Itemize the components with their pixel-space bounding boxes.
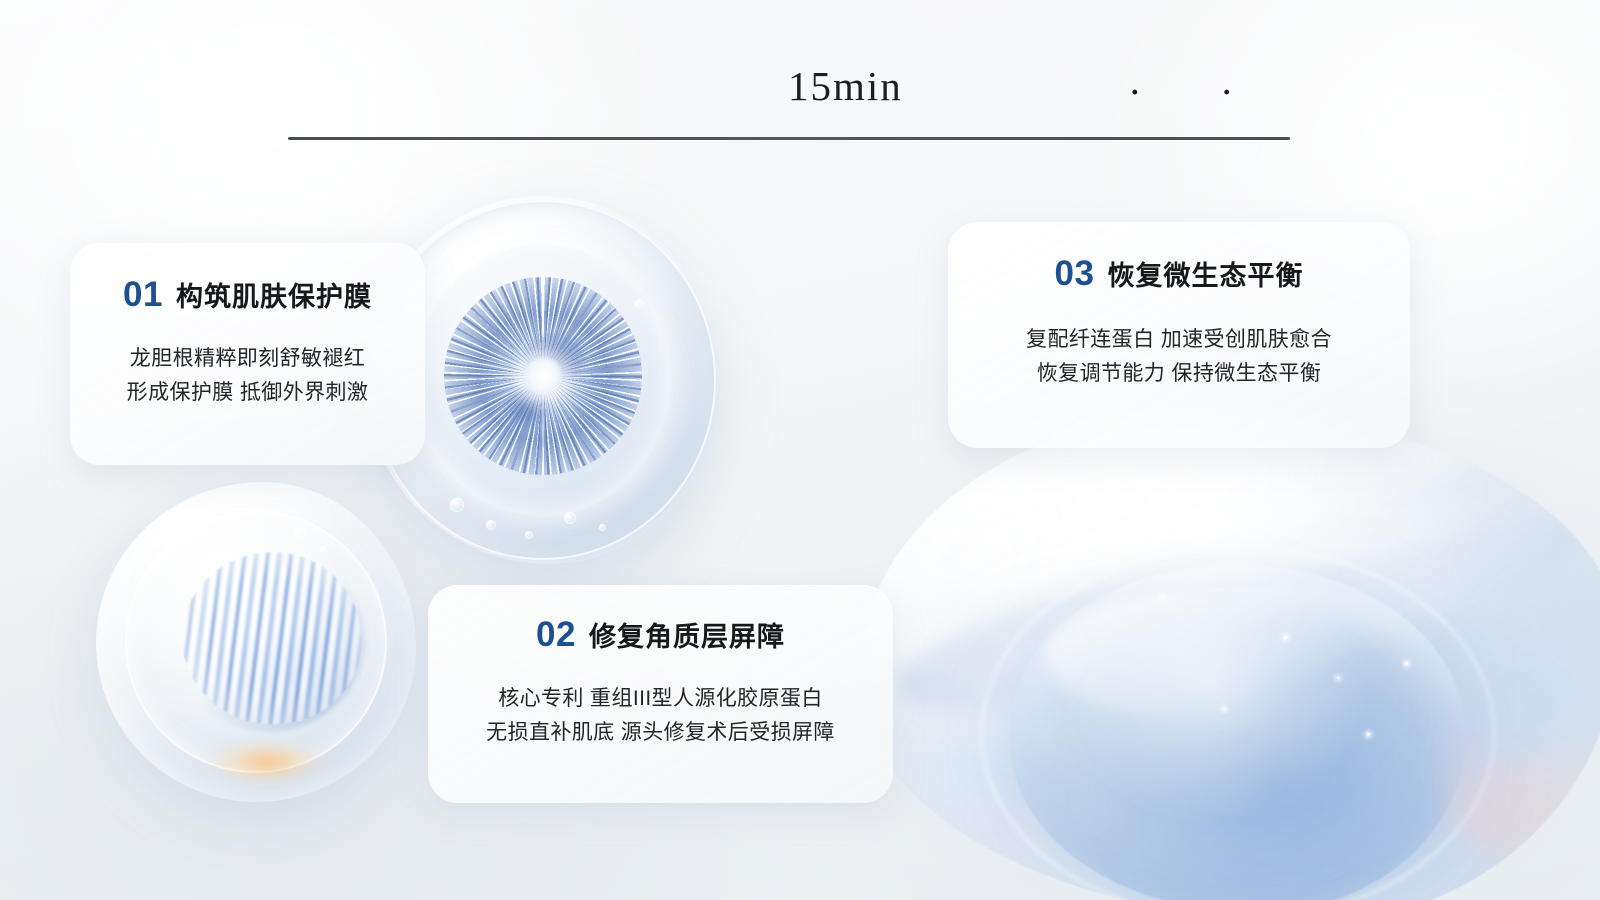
card-02-heading: 02 修复角质层屏障 [536, 617, 785, 652]
benefit-card-01: 01 构筑肌肤保护膜 龙胆根精粹即刻舒敏褪红 形成保护膜 抵御外界刺激 [70, 243, 425, 465]
bubble [429, 277, 439, 287]
duration-label: 15min [788, 62, 903, 110]
bubble [564, 512, 576, 524]
gel-sparkle [1223, 708, 1225, 710]
radial-burst-core [444, 277, 642, 475]
card-02-number: 02 [536, 617, 576, 652]
card-01-body: 龙胆根精粹即刻舒敏褪红 形成保护膜 抵御外界刺激 [127, 342, 369, 410]
card-03-body: 复配纤连蛋白 加速受创肌肤愈合 恢复调节能力 保持微生态平衡 [1026, 323, 1332, 391]
burst-shadow [503, 388, 551, 428]
poster-stage: 15min · · 01 构筑肌肤保护膜 龙胆根精粹即刻舒敏褪红 形成保护膜 抵… [0, 0, 1600, 900]
bubble [635, 299, 644, 308]
card-01-title: 构筑肌肤保护膜 [176, 284, 372, 311]
card-03-number: 03 [1055, 256, 1095, 291]
card-01-body-line-2: 形成保护膜 抵御外界刺激 [127, 376, 369, 410]
card-01-body-line-1: 龙胆根精粹即刻舒敏褪红 [127, 342, 369, 376]
benefit-card-03: 03 恢复微生态平衡 复配纤连蛋白 加速受创肌肤愈合 恢复调节能力 保持微生态平… [948, 222, 1410, 448]
card-02-body: 核心专利 重组III型人源化胶原蛋白 无损直补肌底 源头修复术后受损屏障 [486, 682, 835, 750]
droplet-small-caustic-glow [211, 741, 323, 783]
droplet-small-image [96, 482, 416, 802]
card-03-body-line-2: 恢复调节能力 保持微生态平衡 [1026, 357, 1332, 391]
card-02-body-line-2: 无损直补肌底 源头修复术后受损屏障 [486, 716, 835, 750]
gel-sparkle [1162, 596, 1164, 598]
bubble [450, 498, 464, 512]
burst-shadow [523, 333, 585, 385]
bubble [599, 524, 606, 531]
gel-blob-image [858, 412, 1600, 900]
gel-iridescence-right [1438, 667, 1588, 857]
card-03-title: 恢复微生态平衡 [1107, 263, 1303, 290]
card-01-heading: 01 构筑肌肤保护膜 [123, 277, 372, 312]
benefit-card-02: 02 修复角质层屏障 核心专利 重组III型人源化胶原蛋白 无损直补肌底 源头修… [428, 585, 893, 803]
bubble [525, 531, 533, 539]
card-02-body-line-1: 核心专利 重组III型人源化胶原蛋白 [486, 682, 835, 716]
card-01-number: 01 [123, 277, 163, 312]
header-divider [288, 137, 1290, 140]
header: 15min · · [288, 62, 1290, 140]
card-02-title: 修复角质层屏障 [589, 624, 785, 651]
card-03-heading: 03 恢复微生态平衡 [1055, 256, 1304, 291]
bubble [320, 546, 327, 553]
burst-center-highlight [522, 355, 564, 397]
header-dots: · · [1128, 68, 1268, 116]
bubble [486, 520, 496, 530]
card-03-body-line-1: 复配纤连蛋白 加速受创肌肤愈合 [1026, 323, 1332, 357]
